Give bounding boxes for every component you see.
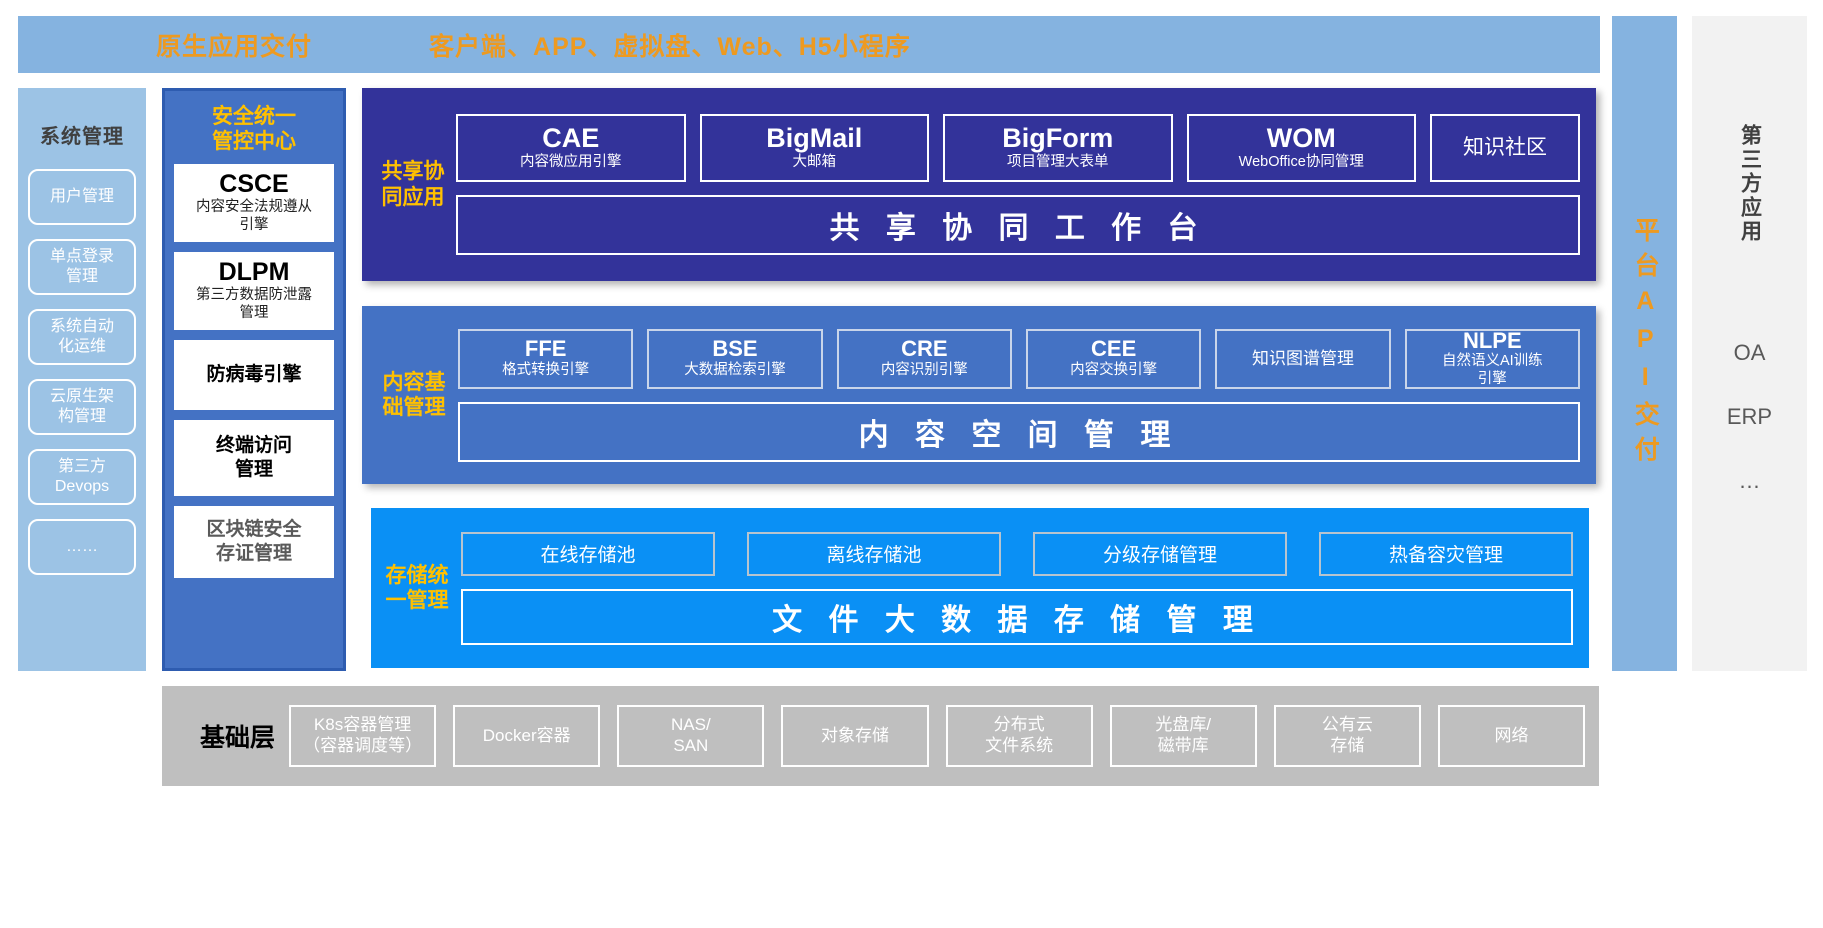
cae-desc: 内容微应用引擎 xyxy=(520,154,622,171)
nlpe-desc: 自然语义AI训练引擎 xyxy=(1442,353,1543,388)
storage-pool-offline[interactable]: 离线存储池 xyxy=(747,532,1001,576)
infra-item-optical-tape-library[interactable]: 光盘库/磁带库 xyxy=(1110,705,1257,767)
cae-code: CAE xyxy=(542,124,599,152)
third-party-item-erp[interactable]: ERP xyxy=(1727,404,1772,430)
antivirus-engine-label: 防病毒引擎 xyxy=(206,363,301,387)
shared-collaboration-content: CAE 内容微应用引擎 BigMail 大邮箱 BigForm 项目管理大表单 … xyxy=(452,102,1596,267)
cee-code: CEE xyxy=(1091,337,1136,361)
cre-code: CRE xyxy=(901,337,947,361)
infra-item-nas-san[interactable]: NAS/SAN xyxy=(617,705,764,767)
security-control-center-column: 安全统一管控中心 CSCE 内容安全法规遵从引擎 DLPM 第三方数据防泄露管理… xyxy=(162,88,346,671)
ffe-code: FFE xyxy=(525,337,567,361)
platform-api-delivery-label: 平台API交付 xyxy=(1631,217,1659,471)
infrastructure-layer-title: 基础层 xyxy=(200,718,275,754)
app-knowledge-community[interactable]: 知识社区 xyxy=(1430,114,1580,182)
app-wom[interactable]: WOM WebOffice协同管理 xyxy=(1187,114,1417,182)
shared-app-list: CAE 内容微应用引擎 BigMail 大邮箱 BigForm 项目管理大表单 … xyxy=(456,114,1580,182)
storage-management-layer: 存储统一管理 在线存储池 离线存储池 分级存储管理 热备容灾管理 文 件 大 数… xyxy=(371,508,1589,668)
infra-item-network[interactable]: 网络 xyxy=(1438,705,1585,767)
third-party-item-more: … xyxy=(1739,468,1761,494)
nlpe-code: NLPE xyxy=(1463,329,1522,353)
engine-cre[interactable]: CRE 内容识别引擎 xyxy=(837,329,1012,389)
third-party-apps-column: 第三方应用 OA ERP … xyxy=(1692,16,1807,671)
infrastructure-item-list: K8s容器管理（容器调度等） Docker容器 NAS/SAN 对象存储 分布式… xyxy=(289,705,1585,767)
file-bigdata-storage-bar[interactable]: 文 件 大 数 据 存 储 管 理 xyxy=(461,589,1573,645)
shared-collaboration-layer: 共享协同应用 CAE 内容微应用引擎 BigMail 大邮箱 BigForm 项… xyxy=(362,88,1596,281)
security-item-dlpm[interactable]: DLPM 第三方数据防泄露管理 xyxy=(174,252,334,330)
shared-collaboration-workbench[interactable]: 共 享 协 同 工 作 台 xyxy=(456,195,1580,255)
security-item-antivirus-engine[interactable]: 防病毒引擎 xyxy=(174,340,334,410)
sidebar-item-sso-management[interactable]: 单点登录管理 xyxy=(28,239,136,295)
cee-desc: 内容交换引擎 xyxy=(1070,362,1157,379)
system-management-column: 系统管理 用户管理 单点登录管理 系统自动化运维 云原生架构管理 第三方Devo… xyxy=(18,88,146,671)
sidebar-item-user-management[interactable]: 用户管理 xyxy=(28,169,136,225)
storage-management-content: 在线存储池 离线存储池 分级存储管理 热备容灾管理 文 件 大 数 据 存 储 … xyxy=(457,520,1589,657)
content-foundation-layer: 内容基础管理 FFE 格式转换引擎 BSE 大数据检索引擎 CRE 内容识别引擎… xyxy=(362,306,1596,484)
csce-desc: 内容安全法规遵从引擎 xyxy=(196,199,312,234)
content-space-management-bar[interactable]: 内 容 空 间 管 理 xyxy=(458,402,1580,462)
bigform-code: BigForm xyxy=(1002,124,1113,152)
infra-item-distributed-fs[interactable]: 分布式文件系统 xyxy=(946,705,1093,767)
app-bigmail[interactable]: BigMail 大邮箱 xyxy=(700,114,930,182)
wom-desc: WebOffice协同管理 xyxy=(1239,154,1364,171)
infra-item-docker[interactable]: Docker容器 xyxy=(453,705,600,767)
system-management-title: 系统管理 xyxy=(40,120,124,149)
engine-nlpe[interactable]: NLPE 自然语义AI训练引擎 xyxy=(1405,329,1580,389)
bigmail-code: BigMail xyxy=(766,124,862,152)
platform-api-delivery-column: 平台API交付 xyxy=(1612,16,1677,671)
top-banner: 原生应用交付 客户端、APP、虚拟盘、Web、H5小程序 xyxy=(18,16,1600,73)
app-bigform[interactable]: BigForm 项目管理大表单 xyxy=(943,114,1173,182)
knowledge-graph-label: 知识图谱管理 xyxy=(1252,349,1354,369)
storage-pool-list: 在线存储池 离线存储池 分级存储管理 热备容灾管理 xyxy=(461,532,1573,576)
architecture-diagram: 原生应用交付 客户端、APP、虚拟盘、Web、H5小程序 系统管理 用户管理 单… xyxy=(0,0,1823,928)
infra-item-public-cloud-storage[interactable]: 公有云存储 xyxy=(1274,705,1421,767)
content-engine-list: FFE 格式转换引擎 BSE 大数据检索引擎 CRE 内容识别引擎 CEE 内容… xyxy=(458,329,1580,389)
sidebar-item-automated-ops[interactable]: 系统自动化运维 xyxy=(28,309,136,365)
content-foundation-content: FFE 格式转换引擎 BSE 大数据检索引擎 CRE 内容识别引擎 CEE 内容… xyxy=(454,317,1596,474)
bigmail-desc: 大邮箱 xyxy=(793,154,837,171)
bse-desc: 大数据检索引擎 xyxy=(684,362,786,379)
sidebar-item-third-party-devops[interactable]: 第三方Devops xyxy=(28,449,136,505)
banner-native-delivery-label: 原生应用交付 xyxy=(156,27,312,63)
storage-pool-online[interactable]: 在线存储池 xyxy=(461,532,715,576)
banner-clients-label: 客户端、APP、虚拟盘、Web、H5小程序 xyxy=(429,27,911,63)
shared-collaboration-side-label: 共享协同应用 xyxy=(374,159,452,209)
infra-item-k8s[interactable]: K8s容器管理（容器调度等） xyxy=(289,705,436,767)
storage-tiered-management[interactable]: 分级存储管理 xyxy=(1033,532,1287,576)
engine-ffe[interactable]: FFE 格式转换引擎 xyxy=(458,329,633,389)
third-party-apps-title: 第三方应用 xyxy=(1735,124,1765,244)
knowledge-community-label: 知识社区 xyxy=(1463,136,1547,159)
infra-item-object-storage[interactable]: 对象存储 xyxy=(781,705,928,767)
engine-bse[interactable]: BSE 大数据检索引擎 xyxy=(647,329,822,389)
security-center-title: 安全统一管控中心 xyxy=(212,105,296,155)
sidebar-item-more[interactable]: …… xyxy=(28,519,136,575)
bigform-desc: 项目管理大表单 xyxy=(1007,154,1109,171)
blockchain-evidence-label: 区块链安全存证管理 xyxy=(206,518,301,566)
storage-management-side-label: 存储统一管理 xyxy=(377,563,457,613)
ffe-desc: 格式转换引擎 xyxy=(502,362,589,379)
cre-desc: 内容识别引擎 xyxy=(881,362,968,379)
infrastructure-layer: 基础层 K8s容器管理（容器调度等） Docker容器 NAS/SAN 对象存储… xyxy=(162,686,1599,786)
security-item-csce[interactable]: CSCE 内容安全法规遵从引擎 xyxy=(174,164,334,242)
storage-hot-backup-dr[interactable]: 热备容灾管理 xyxy=(1319,532,1573,576)
security-item-blockchain-evidence[interactable]: 区块链安全存证管理 xyxy=(174,506,334,578)
csce-code: CSCE xyxy=(219,171,288,199)
engine-cee[interactable]: CEE 内容交换引擎 xyxy=(1026,329,1201,389)
engine-knowledge-graph[interactable]: 知识图谱管理 xyxy=(1215,329,1390,389)
security-item-terminal-access[interactable]: 终端访问管理 xyxy=(174,420,334,496)
dlpm-desc: 第三方数据防泄露管理 xyxy=(196,287,312,322)
content-foundation-side-label: 内容基础管理 xyxy=(374,370,454,420)
sidebar-item-cloud-native-arch[interactable]: 云原生架构管理 xyxy=(28,379,136,435)
wom-code: WOM xyxy=(1267,124,1336,152)
terminal-access-label: 终端访问管理 xyxy=(216,434,292,482)
dlpm-code: DLPM xyxy=(219,259,290,287)
third-party-item-oa[interactable]: OA xyxy=(1734,340,1766,366)
app-cae[interactable]: CAE 内容微应用引擎 xyxy=(456,114,686,182)
bse-code: BSE xyxy=(712,337,757,361)
